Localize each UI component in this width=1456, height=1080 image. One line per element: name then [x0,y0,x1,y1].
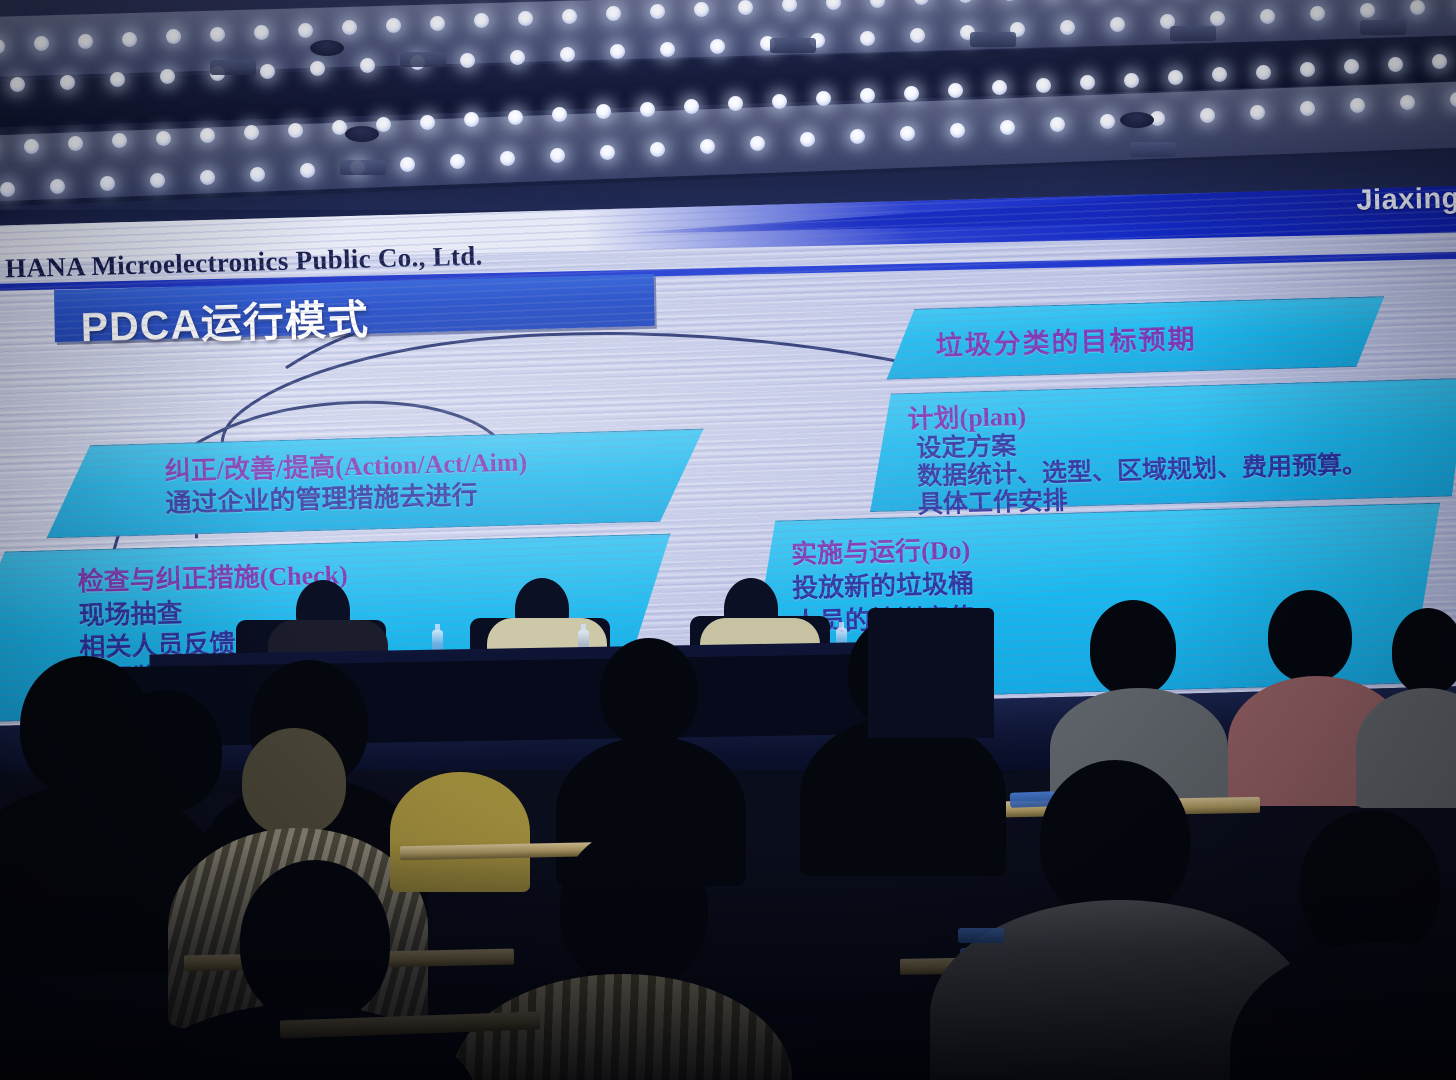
ceiling-light [950,123,965,138]
ceiling-vent [1130,142,1176,157]
ceiling-light [1260,9,1275,24]
audience-head [1392,608,1456,694]
audience-area [0,560,1456,1080]
ceiling-light [200,170,215,185]
ceiling-light [1250,105,1265,120]
ceiling-light [250,167,265,182]
audience-head [560,828,708,988]
ceiling-vent [1170,26,1216,41]
ceiling-vent [210,60,256,75]
ceiling-light [694,2,709,17]
ceiling-light [1050,117,1065,132]
ceiling-vent [770,38,816,53]
ceiling-light [684,99,699,114]
ceiling-light [288,123,303,138]
ceiling-light [310,61,325,76]
ceiling-light [910,28,925,43]
ceiling-light [298,23,313,38]
audience-head [1300,810,1440,960]
ceiling-dome-camera [345,126,379,142]
ceiling-dome-camera [1120,112,1154,128]
ceiling-light [1388,57,1403,72]
audience-chair-back [868,608,994,738]
ceiling-light [386,18,401,33]
ceiling-light [860,31,875,46]
ceiling-light [24,139,39,154]
ceiling-light [200,128,215,143]
ceiling-light [860,88,875,103]
ceiling-light [210,27,225,42]
ceiling-light [1256,65,1271,80]
ceiling-light [816,91,831,106]
slide-title: PDCA运行模式 [80,286,370,354]
ceiling-light [550,148,565,163]
ceiling-light [640,102,655,117]
ceiling-light [254,25,269,40]
ceiling-light [904,86,919,101]
ceiling-light [1060,20,1075,35]
audience-head [1040,760,1190,920]
ceiling-light [1168,70,1183,85]
ceiling-light [1432,54,1447,69]
header-location-label: Jiaxing [1356,185,1456,217]
ceiling-light [1036,78,1051,93]
ceiling-light [500,151,515,166]
ceiling-light [710,39,725,54]
desk-phone [958,928,1004,943]
ceiling-light [518,11,533,26]
ceiling-vent [1360,20,1406,35]
ceiling-light [510,50,525,65]
ceiling-light [122,32,137,47]
ceiling-light [450,154,465,169]
ceiling-light [552,107,567,122]
audience-shoulders [800,716,1006,876]
ceiling-light [100,176,115,191]
conference-hall-photo: Jiaxing HANA Microelectronics Public Co.… [0,0,1456,1080]
ceiling-light [260,64,275,79]
ceiling-light [150,173,165,188]
ceiling-light [1000,120,1015,135]
ceiling-light [156,131,171,146]
ceiling-light [600,145,615,160]
ceiling-light [738,0,753,15]
audience-head [110,690,222,812]
ceiling-light [1110,17,1125,32]
audience-head [240,860,390,1022]
ceiling-light [0,182,15,197]
ceiling-vent [970,32,1016,47]
ceiling-light [68,136,83,151]
ceiling-light [660,42,675,57]
ceiling-light [1200,108,1215,123]
ceiling-light [110,72,125,87]
ceiling-light [772,94,787,109]
ceiling-light [700,139,715,154]
audience-shoulders [390,772,530,892]
ceiling-light [78,34,93,49]
audience-head [242,728,346,836]
ceiling-light [50,179,65,194]
audience-head [1090,600,1176,696]
ceiling-light [1310,6,1325,21]
ceiling-light [430,16,445,31]
ceiling-vent [340,160,386,175]
ceiling-dome-camera [310,40,344,56]
ceiling-light [750,136,765,151]
ceiling-light [562,9,577,24]
block-goal-heading: 垃圾分类的目标预期 [935,317,1197,363]
ceiling-light [650,142,665,157]
ceiling-light [420,115,435,130]
ceiling-light [460,53,475,68]
ceiling-light [60,75,75,90]
ceiling-vent [400,52,446,67]
ceiling-light [1124,73,1139,88]
ceiling-light [1100,114,1115,129]
ceiling-light [508,110,523,125]
audience-head [600,638,698,746]
audience-head [1268,590,1352,682]
ceiling-light [1300,62,1315,77]
